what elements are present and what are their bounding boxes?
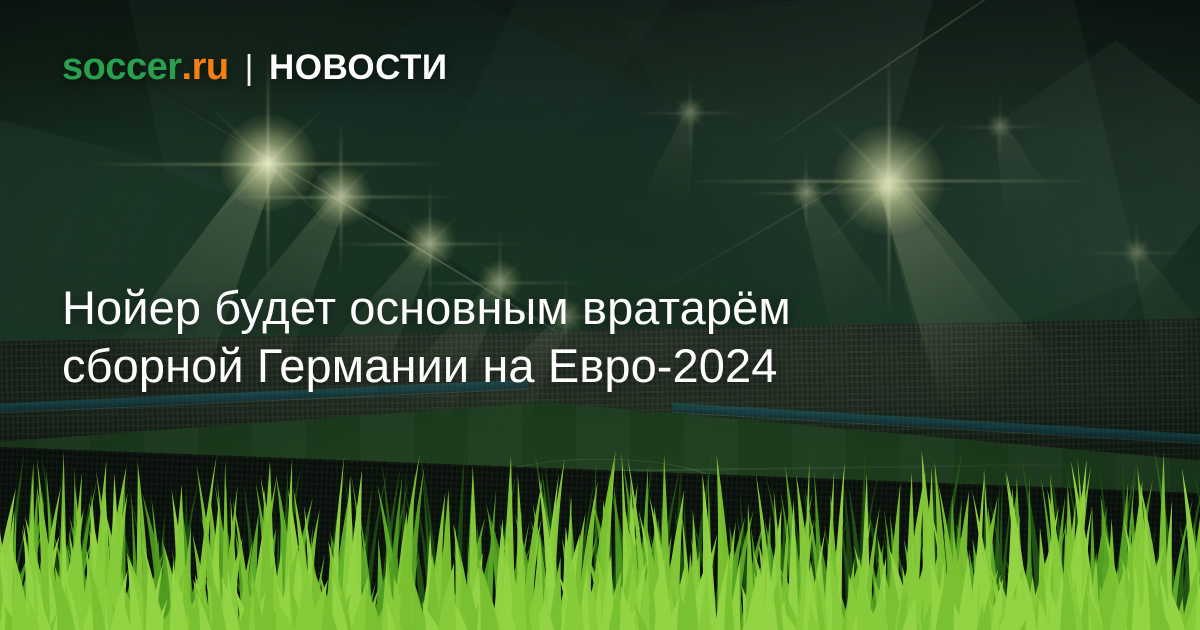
headline-line-1: Нойер будет основным вратарём (62, 279, 1022, 336)
grass-foreground (0, 400, 1200, 630)
news-share-card: soccer.ru | НОВОСТИ Нойер будет основным… (0, 0, 1200, 630)
logo-text-soccer: soccer (62, 46, 182, 89)
section-label-news: НОВОСТИ (269, 48, 448, 88)
headline-line-2: сборной Германии на Евро-2024 (62, 337, 1022, 394)
logo-text-ru: .ru (182, 46, 229, 89)
page-title: Нойер будет основным вратарём сборной Ге… (62, 279, 1022, 394)
logo-separator: | (245, 49, 253, 88)
grass-blades-svg (0, 400, 1200, 630)
site-logo[interactable]: soccer.ru | НОВОСТИ (62, 46, 448, 89)
